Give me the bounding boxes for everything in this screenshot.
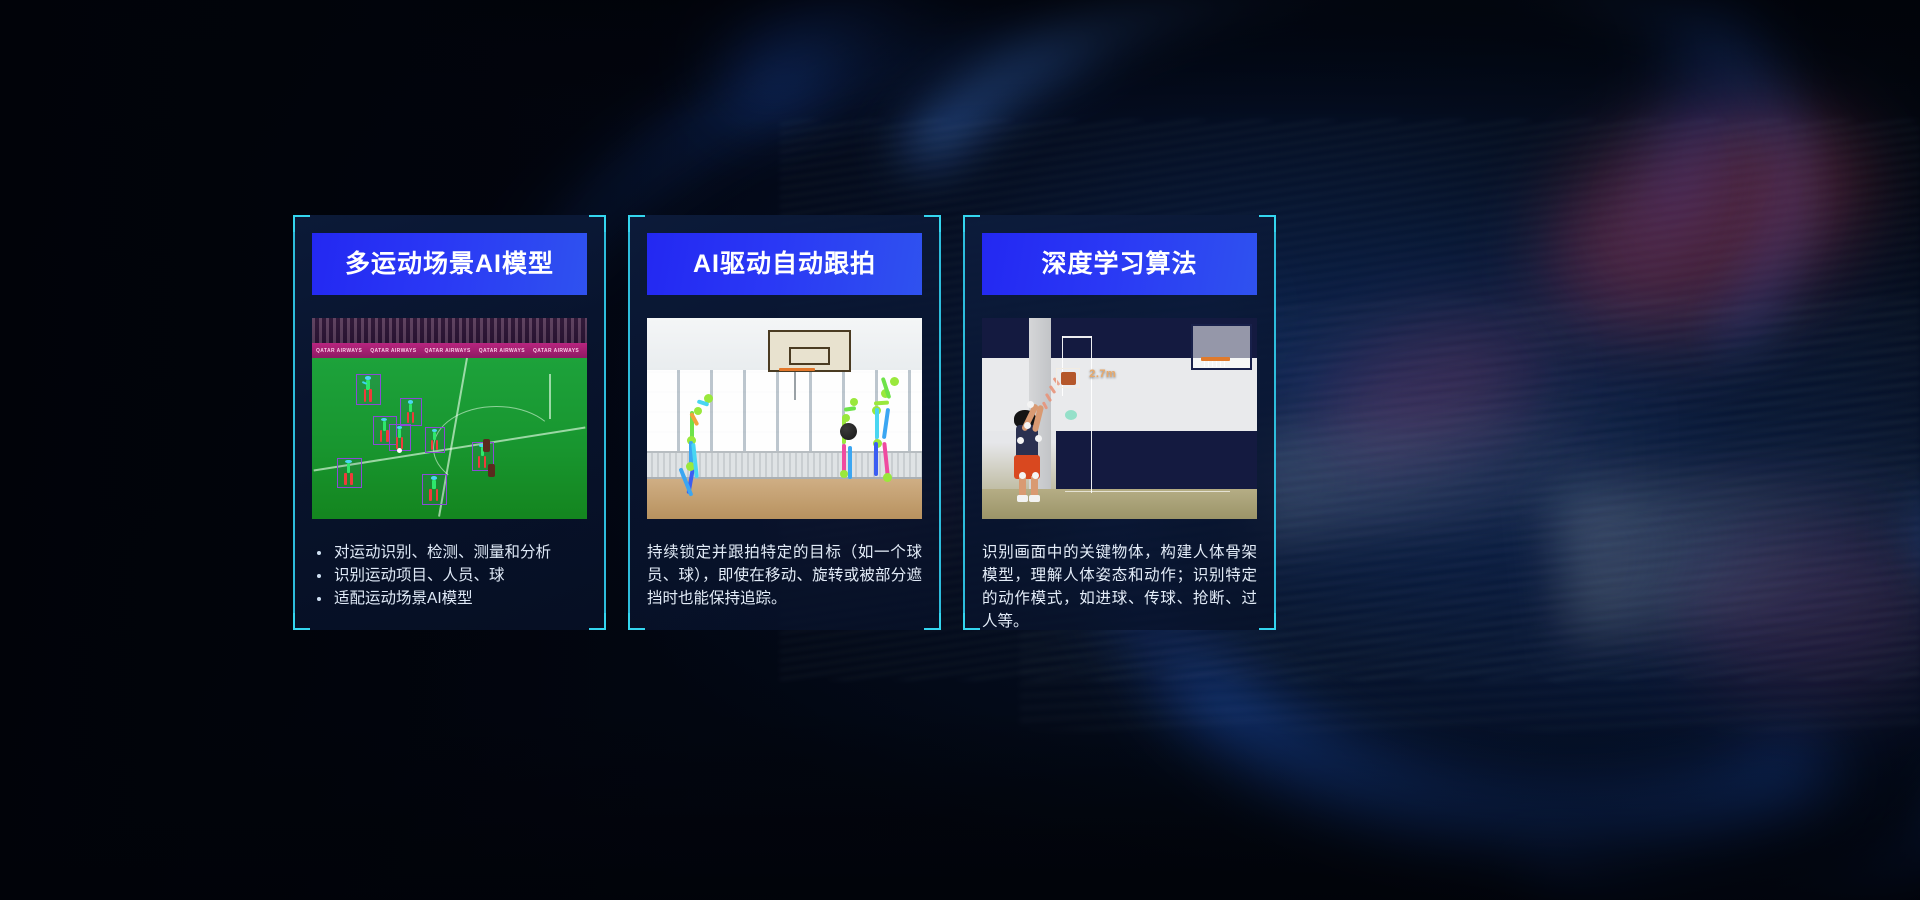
red-accent-glow (1297, 296, 1562, 484)
ad-banner-text: QATAR AIRWAYS (583, 348, 587, 354)
pose-skeleton (864, 386, 908, 507)
basketball-rim (779, 368, 815, 371)
card-title-banner: AI驱动自动跟拍 (647, 233, 922, 295)
card-title: 深度学习算法 (1041, 252, 1197, 277)
ad-banner-text: QATAR AIRWAYS (312, 348, 366, 354)
card-thumbnail-gym-pose[interactable] (647, 318, 922, 519)
feature-card-ai-auto-tracking[interactable]: AI驱动自动跟拍 (628, 215, 941, 630)
stadium-crowd (312, 318, 587, 344)
detection-box (425, 427, 446, 453)
red-accent-glow (1680, 520, 1920, 700)
background-highlight-smear (1553, 450, 1920, 641)
ad-banner-text: QATAR AIRWAYS (529, 348, 583, 354)
ad-banner-text: QATAR AIRWAYS (366, 348, 420, 354)
backboard-pole (794, 372, 796, 400)
ad-banner: QATAR AIRWAYS QATAR AIRWAYS QATAR AIRWAY… (312, 343, 587, 358)
detection-box (356, 374, 381, 405)
card-body: 对运动识别、检测、测量和分析 识别运动项目、人员、球 适配运动场景AI模型 (312, 519, 587, 610)
ad-banner-text: QATAR AIRWAYS (475, 348, 529, 354)
list-item: 对运动识别、检测、测量和分析 (312, 541, 587, 564)
card-thumbnail-shot-trajectory[interactable]: 2.7m (982, 318, 1257, 519)
card-thumbnail-soccer-detection[interactable]: QATAR AIRWAYS QATAR AIRWAYS QATAR AIRWAY… (312, 318, 587, 519)
opponent-player (488, 464, 495, 477)
ad-banner-text: QATAR AIRWAYS (420, 348, 474, 354)
card-title-banner: 深度学习算法 (982, 233, 1257, 295)
wall-pad-left (982, 336, 1029, 358)
detection-box (422, 474, 447, 505)
pitch-centre-arc (433, 406, 560, 490)
soccer-ball (397, 448, 402, 453)
slide-stage: 多运动场景AI模型 QATAR AIRWAYS QATAR AIRWAYS QA… (0, 0, 1920, 900)
list-item: 适配运动场景AI模型 (312, 587, 587, 610)
card-title: 多运动场景AI模型 (345, 252, 554, 277)
card-description: 识别画面中的关键物体，构建人体骨架模型，理解人体姿态和动作；识别特定的动作模式，… (982, 541, 1257, 633)
card-body: 识别画面中的关键物体，构建人体骨架模型，理解人体姿态和动作；识别特定的动作模式，… (982, 519, 1257, 633)
feature-card-row: 多运动场景AI模型 QATAR AIRWAYS QATAR AIRWAYS QA… (293, 215, 1277, 630)
pitch-line (549, 374, 551, 419)
card-title: AI驱动自动跟拍 (693, 252, 876, 277)
feature-bullet-list: 对运动识别、检测、测量和分析 识别运动项目、人员、球 适配运动场景AI模型 (312, 541, 587, 610)
opponent-player (483, 439, 490, 452)
bottom-vignette (0, 710, 1920, 900)
feature-card-multi-sport-ai-model[interactable]: 多运动场景AI模型 QATAR AIRWAYS QATAR AIRWAYS QA… (293, 215, 606, 630)
basketball (840, 423, 857, 440)
detection-box (337, 458, 362, 489)
list-item: 识别运动项目、人员、球 (312, 564, 587, 587)
basketball-backboard (768, 330, 851, 372)
card-title-banner: 多运动场景AI模型 (312, 233, 587, 295)
tracking-guide-line (1062, 336, 1092, 338)
tracking-guide-line (1091, 336, 1093, 493)
background-highlight-smear (1246, 397, 1674, 543)
tracking-guide-line (1065, 491, 1230, 492)
card-description: 持续锁定并跟拍特定的目标（如一个球员、球），即使在移动、旋转或被部分遮挡时也能保… (647, 541, 922, 610)
basketball-hoop (1191, 324, 1252, 370)
card-body: 持续锁定并跟拍特定的目标（如一个球员、球），即使在移动、旋转或被部分遮挡时也能保… (647, 519, 922, 610)
pose-skeleton (683, 394, 730, 511)
height-measurement-label: 2.7m (1089, 368, 1116, 380)
feature-card-deep-learning-algorithm[interactable]: 深度学习算法 (963, 215, 1276, 630)
soccer-pitch (312, 358, 587, 519)
shooting-player (1007, 408, 1054, 504)
gym-wall-navy-lower (1056, 431, 1257, 489)
ball-detection-box (1056, 368, 1080, 388)
detection-box (400, 398, 422, 425)
